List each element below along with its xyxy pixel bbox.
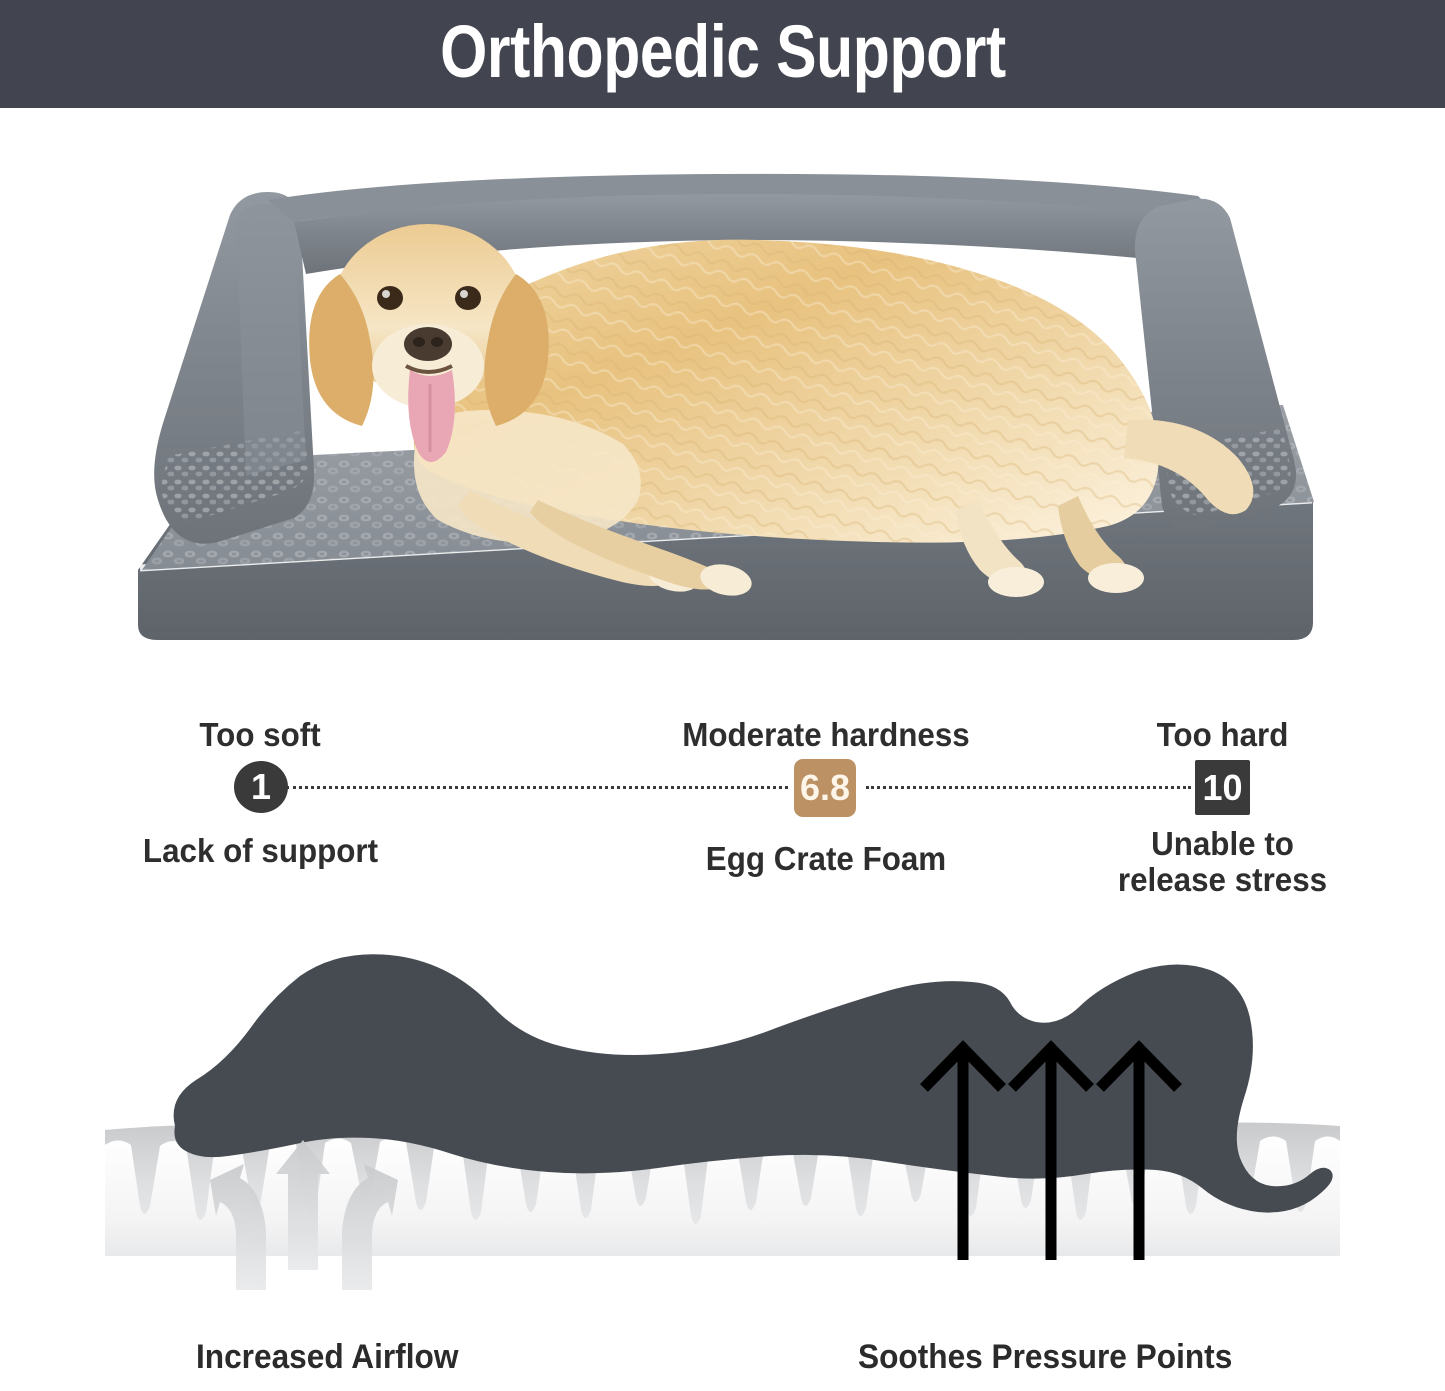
scale-badge-6-8: 6.8 — [794, 759, 856, 817]
scale-label-too-soft: Too soft — [194, 718, 327, 751]
scale-line-right — [866, 786, 1191, 789]
infographic-page: Orthopedic Support — [0, 0, 1445, 1391]
scale-label-egg-crate-foam: Egg Crate Foam — [693, 841, 959, 877]
scale-badge-10: 10 — [1195, 760, 1250, 815]
scale-label-moderate-hardness: Moderate hardness — [674, 718, 978, 751]
scale-line-left — [286, 786, 788, 789]
scale-label-unable-line1: Unable to — [1111, 826, 1334, 862]
header-bar: Orthopedic Support — [0, 0, 1445, 108]
foam-cross-section-diagram — [0, 930, 1445, 1391]
scale-label-lack-of-support: Lack of support — [130, 833, 391, 869]
dog-eye-right — [455, 286, 481, 310]
page-title: Orthopedic Support — [440, 15, 1006, 93]
scale-label-too-hard: Too hard — [1144, 718, 1301, 751]
dog-nose — [404, 327, 452, 361]
egg-crate-foam-diagram — [0, 930, 1445, 1391]
dog-on-bed-illustration — [118, 170, 1333, 670]
scale-badge-1: 1 — [234, 761, 288, 813]
product-photo — [118, 170, 1333, 670]
caption-soothes-pressure-points: Soothes Pressure Points — [858, 1340, 1232, 1374]
scale-label-unable-line2: release stress — [1111, 862, 1334, 898]
dog-eye-left — [377, 286, 403, 310]
pressure-arrows — [924, 1048, 1178, 1260]
caption-increased-airflow: Increased Airflow — [196, 1340, 458, 1374]
